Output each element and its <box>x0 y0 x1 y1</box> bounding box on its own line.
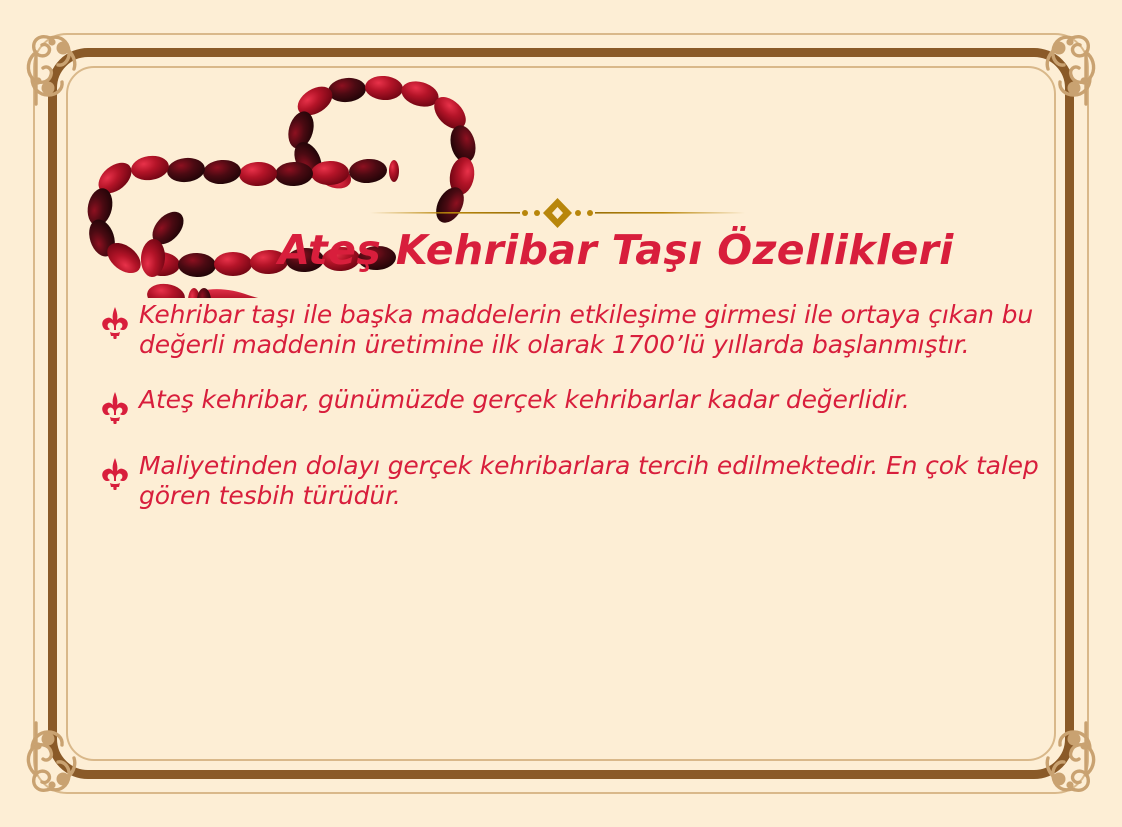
fleur-de-lis-bullet-icon <box>100 457 130 491</box>
list-item: Maliyetinden dolayı gerçek kehribarlara … <box>100 451 1045 510</box>
page-title: Ateş Kehribar Taşı Özellikleri <box>0 226 1122 274</box>
corner-flourish-icon-top-right <box>984 8 1114 138</box>
fleur-de-lis-bullet-icon <box>100 391 130 425</box>
fleur-de-lis-bullet-icon <box>100 306 130 340</box>
list-item: Kehribar taşı ile başka maddelerin etkil… <box>100 300 1045 359</box>
corner-flourish-icon-bottom-right <box>984 689 1114 819</box>
feature-list: Kehribar taşı ile başka maddelerin etkil… <box>100 300 1045 536</box>
list-item: Ateş kehribar, günümüzde gerçek kehribar… <box>100 385 1045 425</box>
corner-flourish-icon-bottom-left <box>8 689 138 819</box>
infographic-card: Ateş Kehribar Taşı Özellikleri Kehribar … <box>0 0 1122 827</box>
list-item-text: Kehribar taşı ile başka maddelerin etkil… <box>139 300 1045 359</box>
corner-flourish-icon-top-left <box>8 8 138 138</box>
list-item-text: Maliyetinden dolayı gerçek kehribarlara … <box>139 451 1045 510</box>
list-item-text: Ateş kehribar, günümüzde gerçek kehribar… <box>139 385 1045 415</box>
divider-ornament <box>370 196 745 230</box>
